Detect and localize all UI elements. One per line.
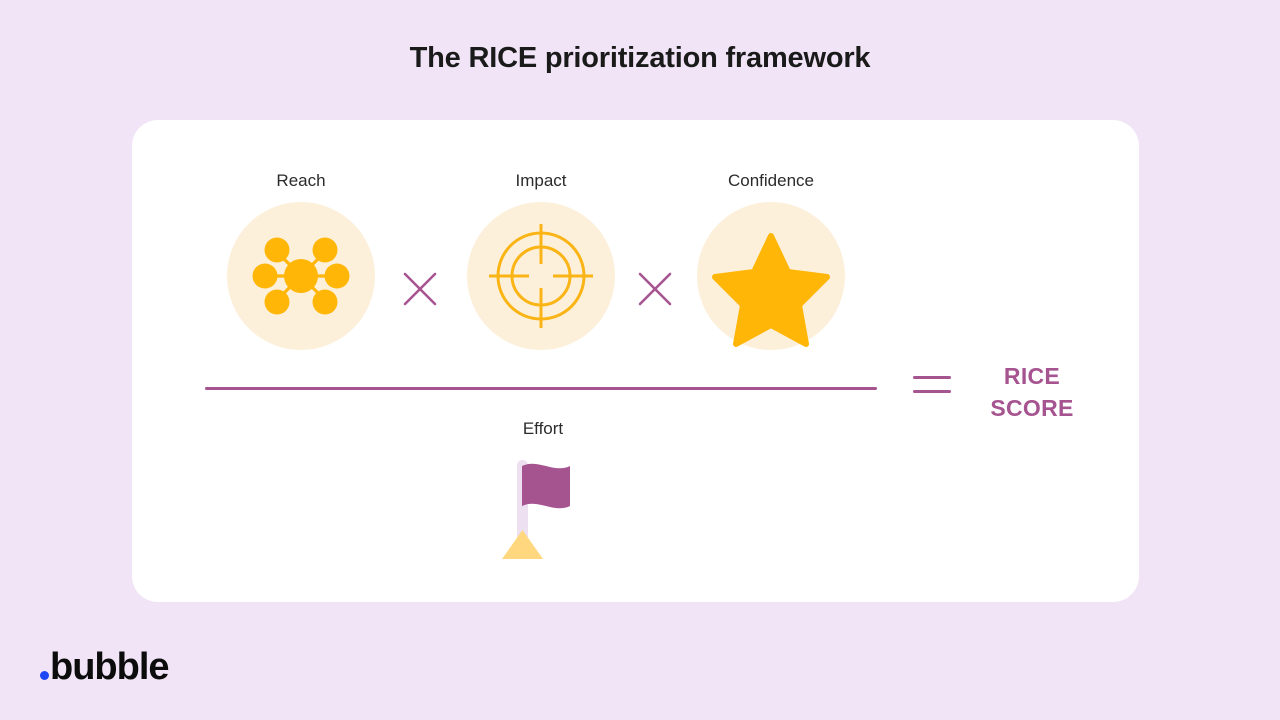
- factor-impact-circle: [467, 202, 615, 350]
- factor-impact-label: Impact: [466, 170, 616, 192]
- equals-bar-bottom: [913, 390, 951, 393]
- flag-icon: [468, 454, 618, 562]
- crosshair-target-icon: [467, 202, 615, 350]
- factor-impact: Impact: [466, 170, 616, 350]
- rice-score-line1: RICE: [962, 360, 1102, 392]
- network-hub-icon: [227, 202, 375, 350]
- factor-effort-label: Effort: [468, 418, 618, 440]
- logo-text: bubble: [50, 648, 169, 686]
- factor-confidence-circle: [697, 202, 845, 350]
- equals-sign: [913, 376, 951, 396]
- multiply-sign-2: [635, 269, 675, 309]
- star-icon: [697, 202, 845, 350]
- rice-score-result: RICE SCORE: [962, 360, 1102, 424]
- bubble-logo: bubble: [40, 648, 169, 686]
- factor-reach-label: Reach: [226, 170, 376, 192]
- factor-reach-circle: [227, 202, 375, 350]
- logo-dot-icon: [40, 671, 49, 680]
- equals-bar-top: [913, 376, 951, 379]
- framework-card: Reach: [132, 120, 1139, 602]
- factor-confidence: Confidence: [696, 170, 846, 350]
- division-bar: [205, 387, 877, 390]
- rice-score-line2: SCORE: [962, 392, 1102, 424]
- multiply-sign-1: [400, 269, 440, 309]
- factor-reach: Reach: [226, 170, 376, 350]
- page-title: The RICE prioritization framework: [0, 42, 1280, 75]
- factor-effort: Effort: [468, 418, 618, 562]
- factor-confidence-label: Confidence: [696, 170, 846, 192]
